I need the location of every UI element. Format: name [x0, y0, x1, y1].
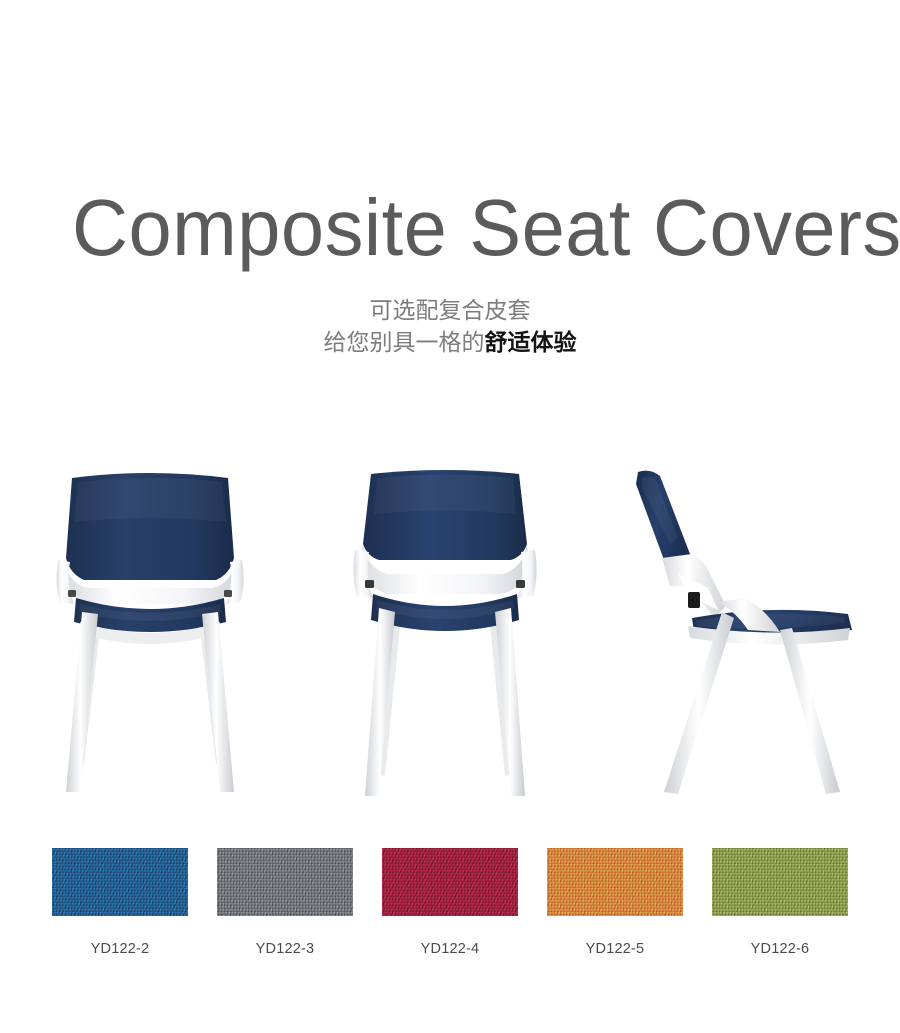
- swatch-item[interactable]: YD122-2: [52, 848, 188, 957]
- subtitle-line-2-accent: 舒适体验: [485, 329, 577, 355]
- chair-leg-front: [780, 628, 840, 794]
- chair-leg-rear: [664, 612, 734, 794]
- subtitle-line-2: 给您别具一格的舒适体验: [0, 326, 900, 358]
- swatch-chip-yd122-6[interactable]: [712, 848, 848, 916]
- swatch-label: YD122-2: [52, 941, 188, 957]
- chair-connector-right: [516, 580, 525, 588]
- subtitle-line-1: 可选配复合皮套: [0, 294, 900, 326]
- subtitle-block: 可选配复合皮套 给您别具一格的舒适体验: [0, 294, 900, 358]
- grain-texture: [712, 848, 848, 916]
- chair-image-side-right: [630, 462, 880, 802]
- chair-front-leg-left: [66, 612, 98, 792]
- swatch-item[interactable]: YD122-6: [712, 848, 848, 957]
- swatch-label: YD122-6: [712, 941, 848, 957]
- subtitle-line-2-normal: 给您别具一格的: [324, 329, 485, 355]
- grain-texture: [52, 848, 188, 916]
- swatch-label: YD122-3: [217, 941, 353, 957]
- chair-hinge: [688, 592, 700, 608]
- chair-connector-left: [365, 580, 374, 588]
- grain-texture: [217, 848, 353, 916]
- chair-connector-right: [224, 590, 232, 597]
- chair-image-front-left: [30, 462, 270, 802]
- grain-texture: [382, 848, 518, 916]
- chair-image-front-mid: [325, 462, 565, 802]
- swatch-chip-yd122-4[interactable]: [382, 848, 518, 916]
- swatch-item[interactable]: YD122-5: [547, 848, 683, 957]
- swatch-item[interactable]: YD122-3: [217, 848, 353, 957]
- fabric-swatch-row: YD122-2 YD122-3 YD122-4 YD122-5: [52, 848, 848, 957]
- chair-front-leg-right: [202, 612, 234, 792]
- grain-texture: [547, 848, 683, 916]
- swatch-chip-yd122-2[interactable]: [52, 848, 188, 916]
- swatch-label: YD122-5: [547, 941, 683, 957]
- chair-gallery: [0, 462, 900, 802]
- product-page: Composite Seat Covers 可选配复合皮套 给您别具一格的舒适体…: [0, 0, 900, 1033]
- swatch-chip-yd122-3[interactable]: [217, 848, 353, 916]
- page-title: Composite Seat Covers: [72, 188, 900, 268]
- swatch-label: YD122-4: [382, 941, 518, 957]
- chair-connector-left: [68, 590, 76, 597]
- swatch-item[interactable]: YD122-4: [382, 848, 518, 957]
- swatch-chip-yd122-5[interactable]: [547, 848, 683, 916]
